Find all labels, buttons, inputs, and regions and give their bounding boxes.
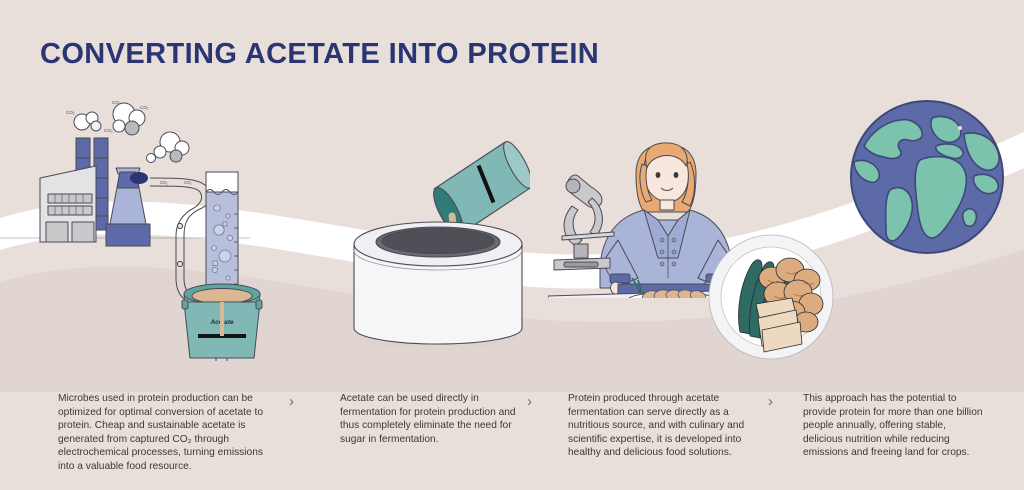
caption-row: Microbes used in protein production can …	[0, 392, 1024, 490]
step-caption-2: Acetate can be used directly in fermenta…	[340, 392, 520, 446]
step-caption-3: Protein produced through acetate ferment…	[568, 392, 753, 460]
chevron-right-icon-3: ›	[768, 394, 773, 409]
page-title: CONVERTING ACETATE INTO PROTEIN	[40, 38, 599, 71]
scene-food-plate	[706, 232, 836, 362]
svg-text:CO₂: CO₂	[140, 105, 149, 110]
scene-fermentation-tank	[330, 132, 530, 362]
svg-text:CO₂: CO₂	[184, 180, 192, 185]
chevron-right-icon-2: ›	[527, 394, 532, 409]
step-caption-1: Microbes used in protein production can …	[58, 392, 263, 474]
cooling-tower	[106, 168, 150, 246]
svg-text:CO₂: CO₂	[112, 100, 121, 105]
factory-building	[40, 166, 96, 242]
svg-text:CO₂: CO₂	[66, 110, 75, 115]
acetate-bucket: Acetate	[182, 284, 262, 358]
svg-text:CO₂: CO₂	[160, 180, 168, 185]
scene-factory-electrolysis: CO₂ CO₂ CO₂ CO₂	[38, 96, 288, 361]
fermentation-vat	[354, 222, 522, 344]
svg-text:CO₂: CO₂	[104, 128, 113, 133]
infographic-canvas: CO₂ CO₂ CO₂ CO₂	[0, 0, 1024, 490]
chevron-right-icon-1: ›	[289, 394, 294, 409]
scene-globe	[848, 98, 1006, 256]
step-caption-4: This approach has the potential to provi…	[803, 392, 983, 460]
